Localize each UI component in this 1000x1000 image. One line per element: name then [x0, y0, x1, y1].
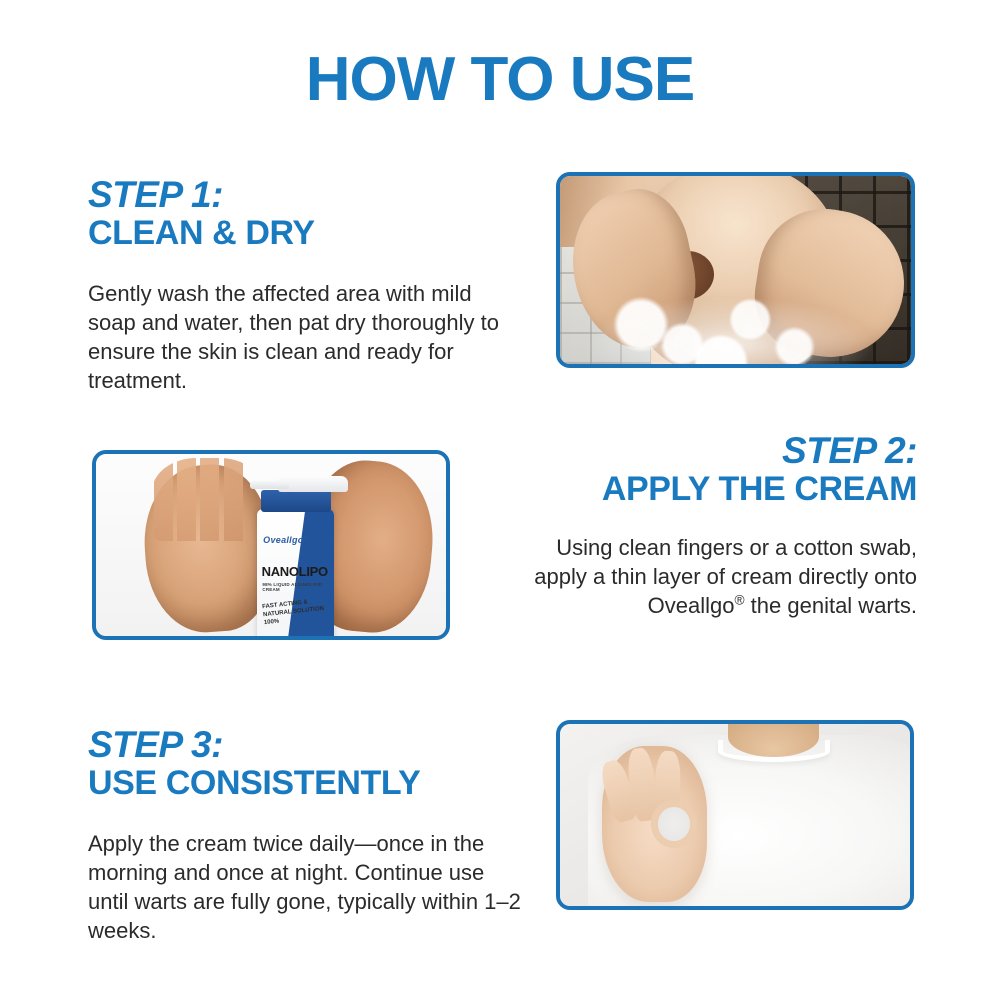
- bottle-brand-text: Oveallgo®: [263, 535, 308, 545]
- bottle-brand-name: Oveallgo: [263, 535, 303, 545]
- step-3-heading: USE CONSISTENTLY: [88, 764, 528, 802]
- step-1-photo: [560, 176, 911, 364]
- step-2-heading: APPLY THE CREAM: [505, 470, 917, 508]
- bottle-pump-collar: [261, 490, 331, 512]
- bottle-registered-mark: ®: [304, 535, 308, 541]
- step-2-body-part-1: Using clean fingers or a cotton swab, ap…: [534, 535, 917, 589]
- step-1-label: STEP 1:: [88, 176, 518, 214]
- step-2-brand-name: Oveallgo: [648, 593, 735, 618]
- bottle-pump-spout: [250, 481, 289, 488]
- step-3-body: Apply the cream twice daily—once in the …: [88, 829, 528, 946]
- step-2-photo: Oveallgo® NANOLIPO 98% LIQUID ALGINOLIPI…: [96, 454, 446, 636]
- step-1-image-frame: [556, 172, 915, 368]
- bottle-pump-head: [278, 476, 348, 492]
- step-2-image-frame: Oveallgo® NANOLIPO 98% LIQUID ALGINOLIPI…: [92, 450, 450, 640]
- step-2-body: Using clean fingers or a cotton swab, ap…: [505, 533, 917, 621]
- step-2-label: STEP 2:: [505, 432, 917, 470]
- ok-ring: [651, 800, 697, 847]
- bottle-subtitle: 98% LIQUID ALGINOLIPID CREAM: [262, 582, 334, 592]
- step-1-body: Gently wash the affected area with mild …: [88, 279, 518, 396]
- product-bottle: Oveallgo® NANOLIPO 98% LIQUID ALGINOLIPI…: [257, 509, 334, 636]
- step-3-text-block: STEP 3: USE CONSISTENTLY Apply the cream…: [88, 726, 528, 946]
- step-3-image-frame: [556, 720, 914, 910]
- soap-foam: [588, 247, 883, 364]
- how-to-use-infographic: HOW TO USE STEP 1: CLEAN & DRY Gently wa…: [0, 0, 1000, 1000]
- page-title: HOW TO USE: [0, 44, 1000, 115]
- step-1-heading: CLEAN & DRY: [88, 214, 518, 252]
- step-3-label: STEP 3:: [88, 726, 528, 764]
- step-3-photo: [560, 724, 910, 906]
- step-2-registered-mark: ®: [735, 593, 745, 608]
- step-1-text-block: STEP 1: CLEAN & DRY Gently wash the affe…: [88, 176, 518, 396]
- palm-fingers: [152, 458, 264, 542]
- step-2-text-block: STEP 2: APPLY THE CREAM Using clean fing…: [505, 432, 917, 620]
- step-2-body-part-2: the genital warts.: [745, 593, 917, 618]
- shirt-collar: [718, 740, 830, 762]
- bottle-product-name: NANOLIPO: [262, 564, 328, 579]
